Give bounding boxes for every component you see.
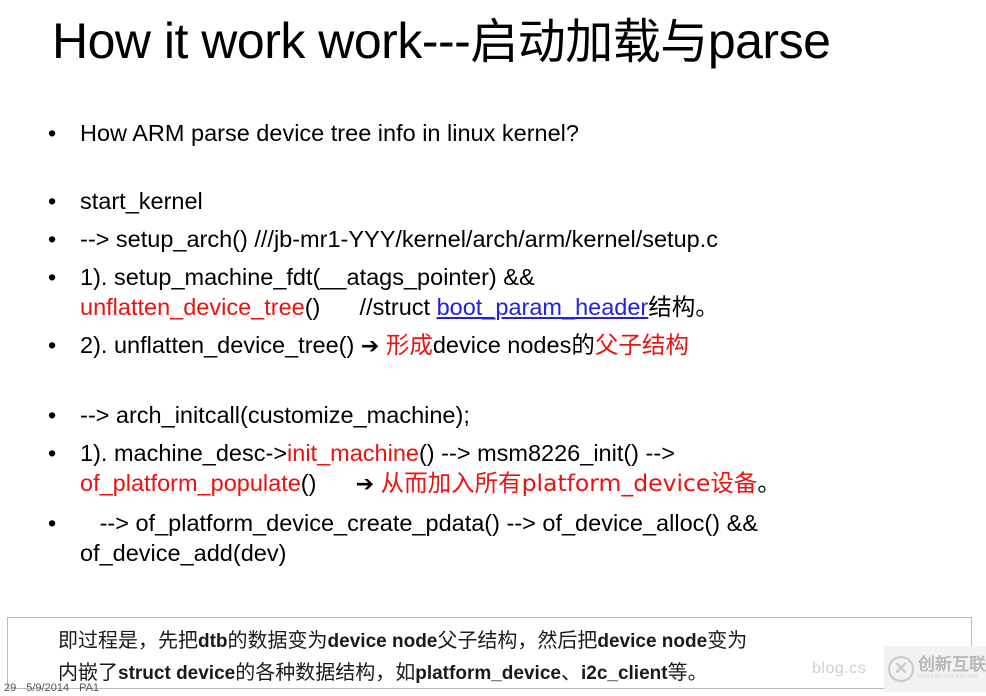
note-term-i2c-client: i2c_client: [581, 663, 668, 684]
slide-tag: PA1: [79, 682, 99, 694]
list-spacer: [30, 148, 960, 178]
note-seg: 、: [561, 660, 581, 684]
list-item: • 1). machine_desc->init_machine() --> m…: [30, 438, 960, 500]
watermark-brand-sub: CHUANGXIN HULIAN: [918, 675, 986, 680]
bullet-text-line1: 1). machine_desc->init_machine() --> msm…: [80, 438, 960, 468]
title-suffix: parse: [708, 13, 831, 69]
note-seg: 的各种数据结构，如: [235, 660, 415, 684]
slide-footer: 295/9/2014PA1: [4, 681, 109, 695]
list-spacer: [30, 178, 960, 186]
bullet-dot-icon: •: [48, 508, 56, 538]
bullet-text: How ARM parse device tree info in linux …: [80, 118, 960, 148]
note-term-dtb: dtb: [198, 631, 228, 652]
title-prefix: How it work work---: [52, 13, 470, 69]
note-seg: 变为: [707, 628, 747, 652]
note-seg: 即过程是，先把: [58, 628, 198, 652]
note-term-device-node: device node: [328, 631, 438, 652]
page-title: How it work work---启动加载与parse: [52, 8, 952, 75]
watermark-brand: 创新互联: [918, 657, 986, 675]
bullet-dot-icon: •: [48, 224, 56, 254]
bullet-text-line1: --> of_platform_device_create_pdata() --…: [80, 508, 960, 538]
list-spacer: [30, 500, 960, 508]
bullet-dot-icon: •: [48, 118, 56, 148]
slide-date: 5/9/2014: [26, 682, 69, 694]
note-term-platform-device: platform_device: [415, 663, 561, 684]
note-term-struct-device: struct device: [118, 663, 235, 684]
bullet-dot-icon: •: [48, 438, 56, 468]
bullet-list: • How ARM parse device tree info in linu…: [30, 118, 960, 568]
bullet-mid-text: () //struct: [305, 294, 437, 320]
list-item: • --> of_platform_device_create_pdata() …: [30, 508, 960, 568]
bullet-dot-icon: •: [48, 262, 56, 292]
bullet-cjk-tail: 。: [757, 469, 781, 497]
list-spacer: [30, 430, 960, 438]
watermark-logo-icon: ✕: [888, 656, 914, 682]
bullet-text: --> arch_initcall(customize_machine);: [80, 400, 960, 430]
note-seg: 父子结构，然后把: [437, 628, 597, 652]
note-seg: 的数据变为: [228, 628, 328, 652]
bullet-mid-text: device nodes: [433, 332, 572, 358]
slide-number: 29: [4, 682, 16, 694]
note-text: 即过程是，先把dtb的数据变为device node父子结构，然后把device…: [58, 625, 938, 689]
list-spacer: [30, 322, 960, 330]
bullet-text-line2: unflatten_device_tree() //struct boot_pa…: [80, 292, 960, 322]
bullet-post-text: () --> msm8226_init() -->: [419, 440, 675, 466]
bullet-text-line2: of_device_add(dev): [80, 538, 960, 568]
list-item: • --> arch_initcall(customize_machine);: [30, 400, 960, 430]
bullet-text: start_kernel: [80, 186, 960, 216]
bullet-text: 2). unflatten_device_tree() ➔ 形成device n…: [80, 330, 960, 362]
list-item: • 2). unflatten_device_tree() ➔ 形成device…: [30, 330, 960, 362]
note-line-2: 内嵌了struct device的各种数据结构，如platform_device…: [58, 657, 938, 689]
list-item: • start_kernel: [30, 186, 960, 216]
bullet-text-line2: of_platform_populate() ➔ 从而加入所有platform_…: [80, 468, 960, 500]
list-item: • How ARM parse device tree info in linu…: [30, 118, 960, 148]
code-token-init-machine: init_machine: [287, 440, 419, 466]
watermark-badge: ✕ 创新互联 CHUANGXIN HULIAN: [884, 646, 986, 692]
list-spacer: [30, 254, 960, 262]
code-token-unflatten-device-tree: unflatten_device_tree: [80, 294, 305, 320]
list-item: • --> setup_arch() ///jb-mr1-YYY/kernel/…: [30, 224, 960, 254]
bullet-text: --> setup_arch() ///jb-mr1-YYY/kernel/ar…: [80, 224, 960, 254]
highlight-cjk-xingcheng: 形成: [386, 331, 433, 359]
highlight-cjk-platform-device: 从而加入所有platform_device设备: [381, 469, 758, 497]
list-item: • 1). setup_machine_fdt(__atags_pointer)…: [30, 262, 960, 322]
title-cjk: 启动加载与: [470, 14, 708, 70]
bullet-cjk-tail: 结构。: [648, 293, 719, 321]
code-token-of-platform-populate: of_platform_populate: [80, 470, 301, 496]
list-spacer: [30, 392, 960, 400]
note-seg: 等。: [668, 660, 708, 684]
bullet-cjk-de: 的: [571, 331, 595, 359]
bullet-text-line1: 1). setup_machine_fdt(__atags_pointer) &…: [80, 262, 960, 292]
note-line-1: 即过程是，先把dtb的数据变为device node父子结构，然后把device…: [58, 625, 938, 657]
bullet-mid-text: (): [301, 470, 356, 496]
right-arrow-icon: ➔: [356, 472, 374, 497]
highlight-cjk-fuzi-jiegou: 父子结构: [595, 331, 689, 359]
bullet-dot-icon: •: [48, 400, 56, 430]
bullet-pre-text: 1). machine_desc->: [80, 440, 287, 466]
bullet-dot-icon: •: [48, 186, 56, 216]
link-boot-param-header[interactable]: boot_param_header: [437, 294, 649, 320]
note-term-device-node: device node: [597, 631, 707, 652]
list-spacer: [30, 362, 960, 392]
slide-canvas: How it work work---启动加载与parse • How ARM …: [0, 0, 986, 696]
watermark-text-group: 创新互联 CHUANGXIN HULIAN: [918, 657, 986, 680]
bullet-dot-icon: •: [48, 330, 56, 360]
bullet-pre-text: 2). unflatten_device_tree(): [80, 332, 361, 358]
right-arrow-icon: ➔: [361, 334, 379, 359]
list-spacer: [30, 216, 960, 224]
watermark-blog-text: blog.cs: [812, 660, 866, 678]
